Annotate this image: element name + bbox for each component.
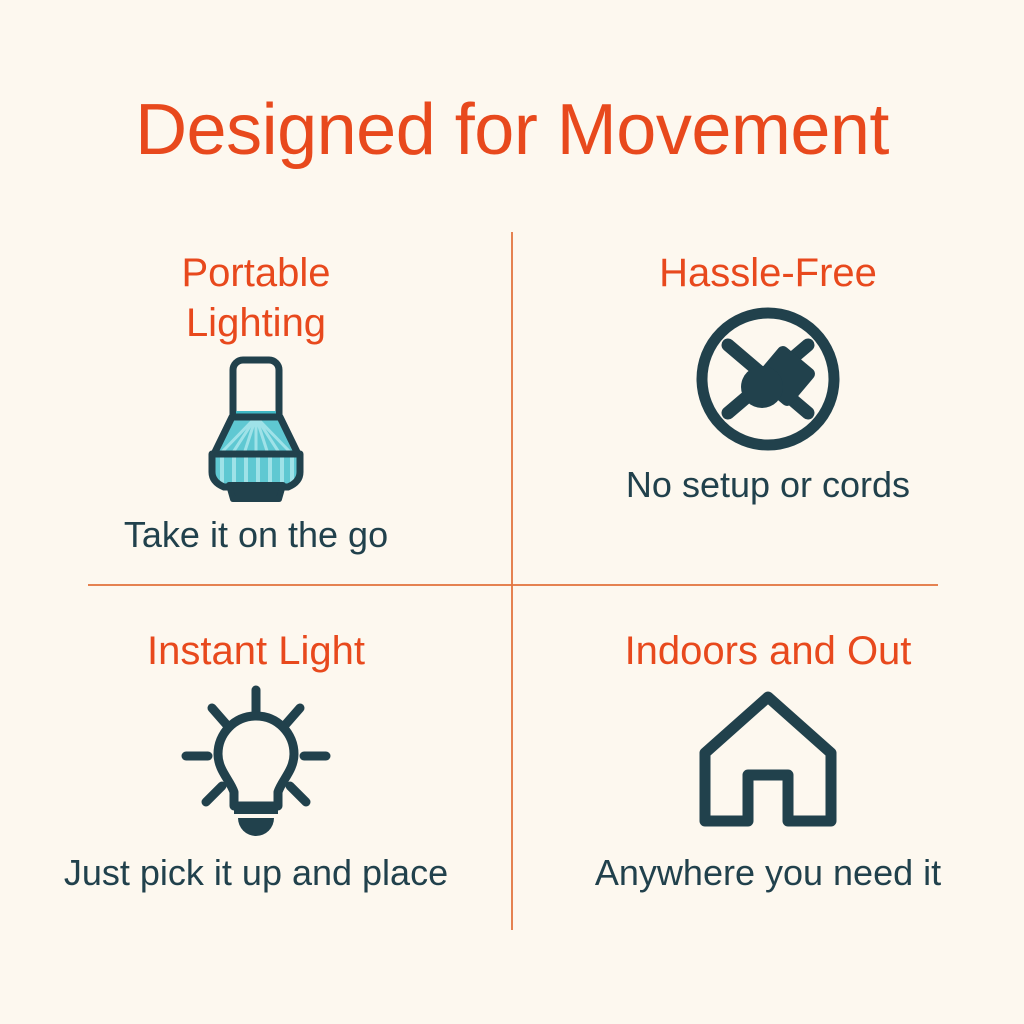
- feature-card-indoors-and-out: Indoors and Out Anywhere you need it: [512, 584, 1024, 938]
- feature-heading: Indoors and Out: [625, 626, 912, 676]
- portable-lantern-icon: [196, 354, 316, 504]
- feature-heading: Portable Lighting: [126, 248, 386, 348]
- feature-heading: Hassle-Free: [659, 248, 877, 298]
- feature-caption: Anywhere you need it: [595, 850, 941, 896]
- house-icon: [693, 680, 843, 840]
- feature-card-instant-light: Instant Light: [0, 584, 512, 938]
- feature-caption: Just pick it up and place: [64, 850, 448, 896]
- page-title: Designed for Movement: [0, 88, 1024, 172]
- feature-poster: Designed for Movement Portable Lighting: [0, 0, 1024, 1024]
- feature-card-hassle-free: Hassle-Free No setup or cords: [512, 228, 1024, 584]
- lightbulb-rays-icon: [176, 680, 336, 840]
- feature-caption: No setup or cords: [626, 462, 910, 508]
- feature-grid: Portable Lighting: [0, 228, 1024, 938]
- feature-heading: Instant Light: [147, 626, 365, 676]
- feature-caption: Take it on the go: [124, 512, 388, 558]
- feature-card-portable-lighting: Portable Lighting: [0, 228, 512, 584]
- no-plug-icon: [690, 304, 846, 454]
